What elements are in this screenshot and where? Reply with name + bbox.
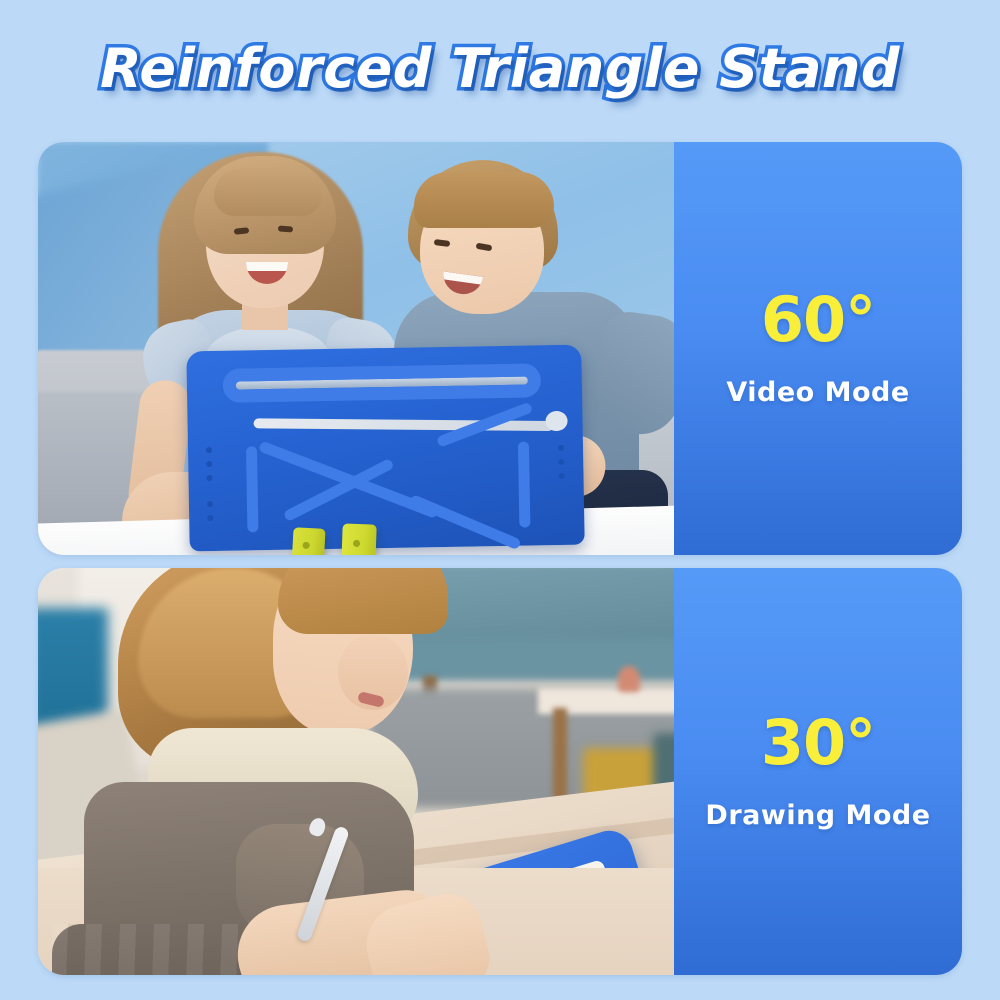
case-handle bbox=[223, 363, 542, 403]
product-photo-drawing-mode bbox=[38, 568, 674, 975]
page-title: Reinforced Triangle Stand bbox=[100, 37, 900, 100]
background-vase bbox=[618, 666, 640, 692]
kickstand-leg-left bbox=[288, 527, 325, 555]
angle-panel-video-mode: 60° Video Mode bbox=[674, 142, 962, 555]
feature-card-video-mode: 60° Video Mode bbox=[38, 142, 962, 555]
stylus-tip bbox=[545, 411, 567, 431]
angle-value: 60° bbox=[761, 289, 875, 351]
case-vent-hole bbox=[558, 473, 564, 479]
case-vent-hole bbox=[558, 459, 564, 465]
feature-card-drawing-mode: 30° Drawing Mode bbox=[38, 568, 962, 975]
page-header: Reinforced Triangle Stand bbox=[0, 28, 1000, 108]
tablet-case-back bbox=[186, 345, 584, 552]
case-vent-hole bbox=[206, 475, 212, 481]
case-vent-hole bbox=[558, 445, 564, 451]
angle-panel-drawing-mode: 30° Drawing Mode bbox=[674, 568, 962, 975]
case-rib-diagonal-4 bbox=[409, 494, 522, 550]
case-rib-left bbox=[246, 446, 258, 532]
girl-eye-right bbox=[278, 225, 293, 232]
angle-value: 30° bbox=[761, 712, 875, 774]
case-vent-hole bbox=[207, 501, 213, 507]
mode-label: Drawing Mode bbox=[705, 800, 930, 831]
product-photo-video-mode bbox=[38, 142, 674, 555]
girl-hair-fringe bbox=[214, 168, 322, 216]
case-vent-hole bbox=[207, 515, 213, 521]
kickstand-leg-right bbox=[339, 523, 376, 555]
boy-hair-fringe bbox=[414, 172, 554, 228]
mode-label: Video Mode bbox=[726, 377, 909, 408]
girl-teeth bbox=[246, 262, 288, 271]
case-vent-hole bbox=[206, 447, 212, 453]
case-vent-hole bbox=[206, 461, 212, 467]
toddler-hair-front bbox=[278, 568, 448, 634]
case-rib-right bbox=[518, 441, 530, 527]
